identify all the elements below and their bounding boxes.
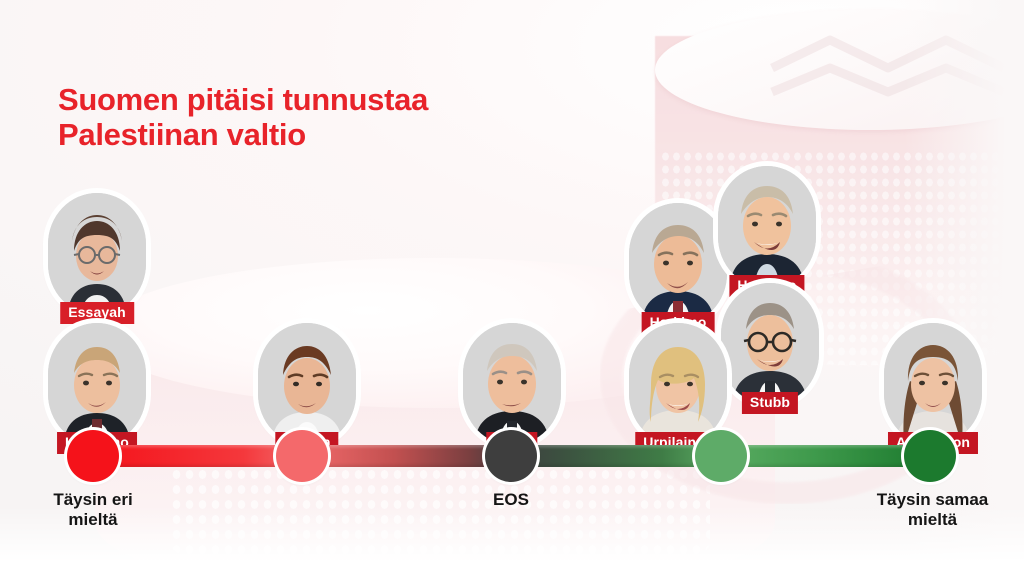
scale-label-left: Täysin eri mieltä bbox=[23, 490, 163, 531]
avatar bbox=[48, 323, 146, 445]
page-title: Suomen pitäisi tunnustaa Palestiinan val… bbox=[58, 82, 578, 153]
portrait-rehn-icon bbox=[463, 323, 561, 445]
scale-dot-somewhat-disagree[interactable] bbox=[276, 430, 328, 482]
candidate-halla-aho[interactable]: Halla-aho bbox=[48, 323, 146, 445]
avatar bbox=[884, 323, 982, 445]
scale-label-center: EOS bbox=[441, 490, 581, 510]
candidate-name-tag: Essayah bbox=[60, 302, 134, 324]
avatar bbox=[463, 323, 561, 445]
portrait-haavisto-icon bbox=[718, 166, 816, 288]
avatar bbox=[721, 283, 819, 405]
candidate-essayah[interactable]: Essayah bbox=[48, 193, 146, 315]
scale-dot-eos[interactable] bbox=[485, 430, 537, 482]
scale-dot-fully-disagree[interactable] bbox=[67, 430, 119, 482]
candidate-rehn[interactable]: Rehn bbox=[463, 323, 561, 445]
portrait-aaltola-icon bbox=[258, 323, 356, 445]
avatar bbox=[718, 166, 816, 288]
scale-label-right: Täysin samaa mieltä bbox=[855, 490, 1010, 531]
portrait-stubb-icon bbox=[721, 283, 819, 405]
opinion-scale-track[interactable] bbox=[93, 445, 930, 467]
infographic-canvas: Suomen pitäisi tunnustaa Palestiinan val… bbox=[0, 0, 1024, 576]
avatar bbox=[258, 323, 356, 445]
portrait-urpilainen-icon bbox=[629, 323, 727, 445]
scale-dot-somewhat-agree[interactable] bbox=[695, 430, 747, 482]
scale-dot-fully-agree[interactable] bbox=[904, 430, 956, 482]
avatar bbox=[629, 203, 727, 325]
portrait-andersson-icon bbox=[884, 323, 982, 445]
portrait-essayah-icon bbox=[48, 193, 146, 315]
candidate-aaltola[interactable]: Aaltola bbox=[258, 323, 356, 445]
portrait-halla-aho-icon bbox=[48, 323, 146, 445]
candidate-haavisto[interactable]: Haavisto bbox=[718, 166, 816, 288]
candidate-urpilainen[interactable]: Urpilainen bbox=[629, 323, 727, 445]
portrait-harkimo-icon bbox=[629, 203, 727, 325]
avatar bbox=[629, 323, 727, 445]
candidate-name-tag: Stubb bbox=[742, 392, 798, 414]
candidate-stubb[interactable]: Stubb bbox=[721, 283, 819, 405]
candidate-andersson[interactable]: Andersson bbox=[884, 323, 982, 445]
avatar bbox=[48, 193, 146, 315]
candidate-harkimo[interactable]: Harkimo bbox=[629, 203, 727, 325]
